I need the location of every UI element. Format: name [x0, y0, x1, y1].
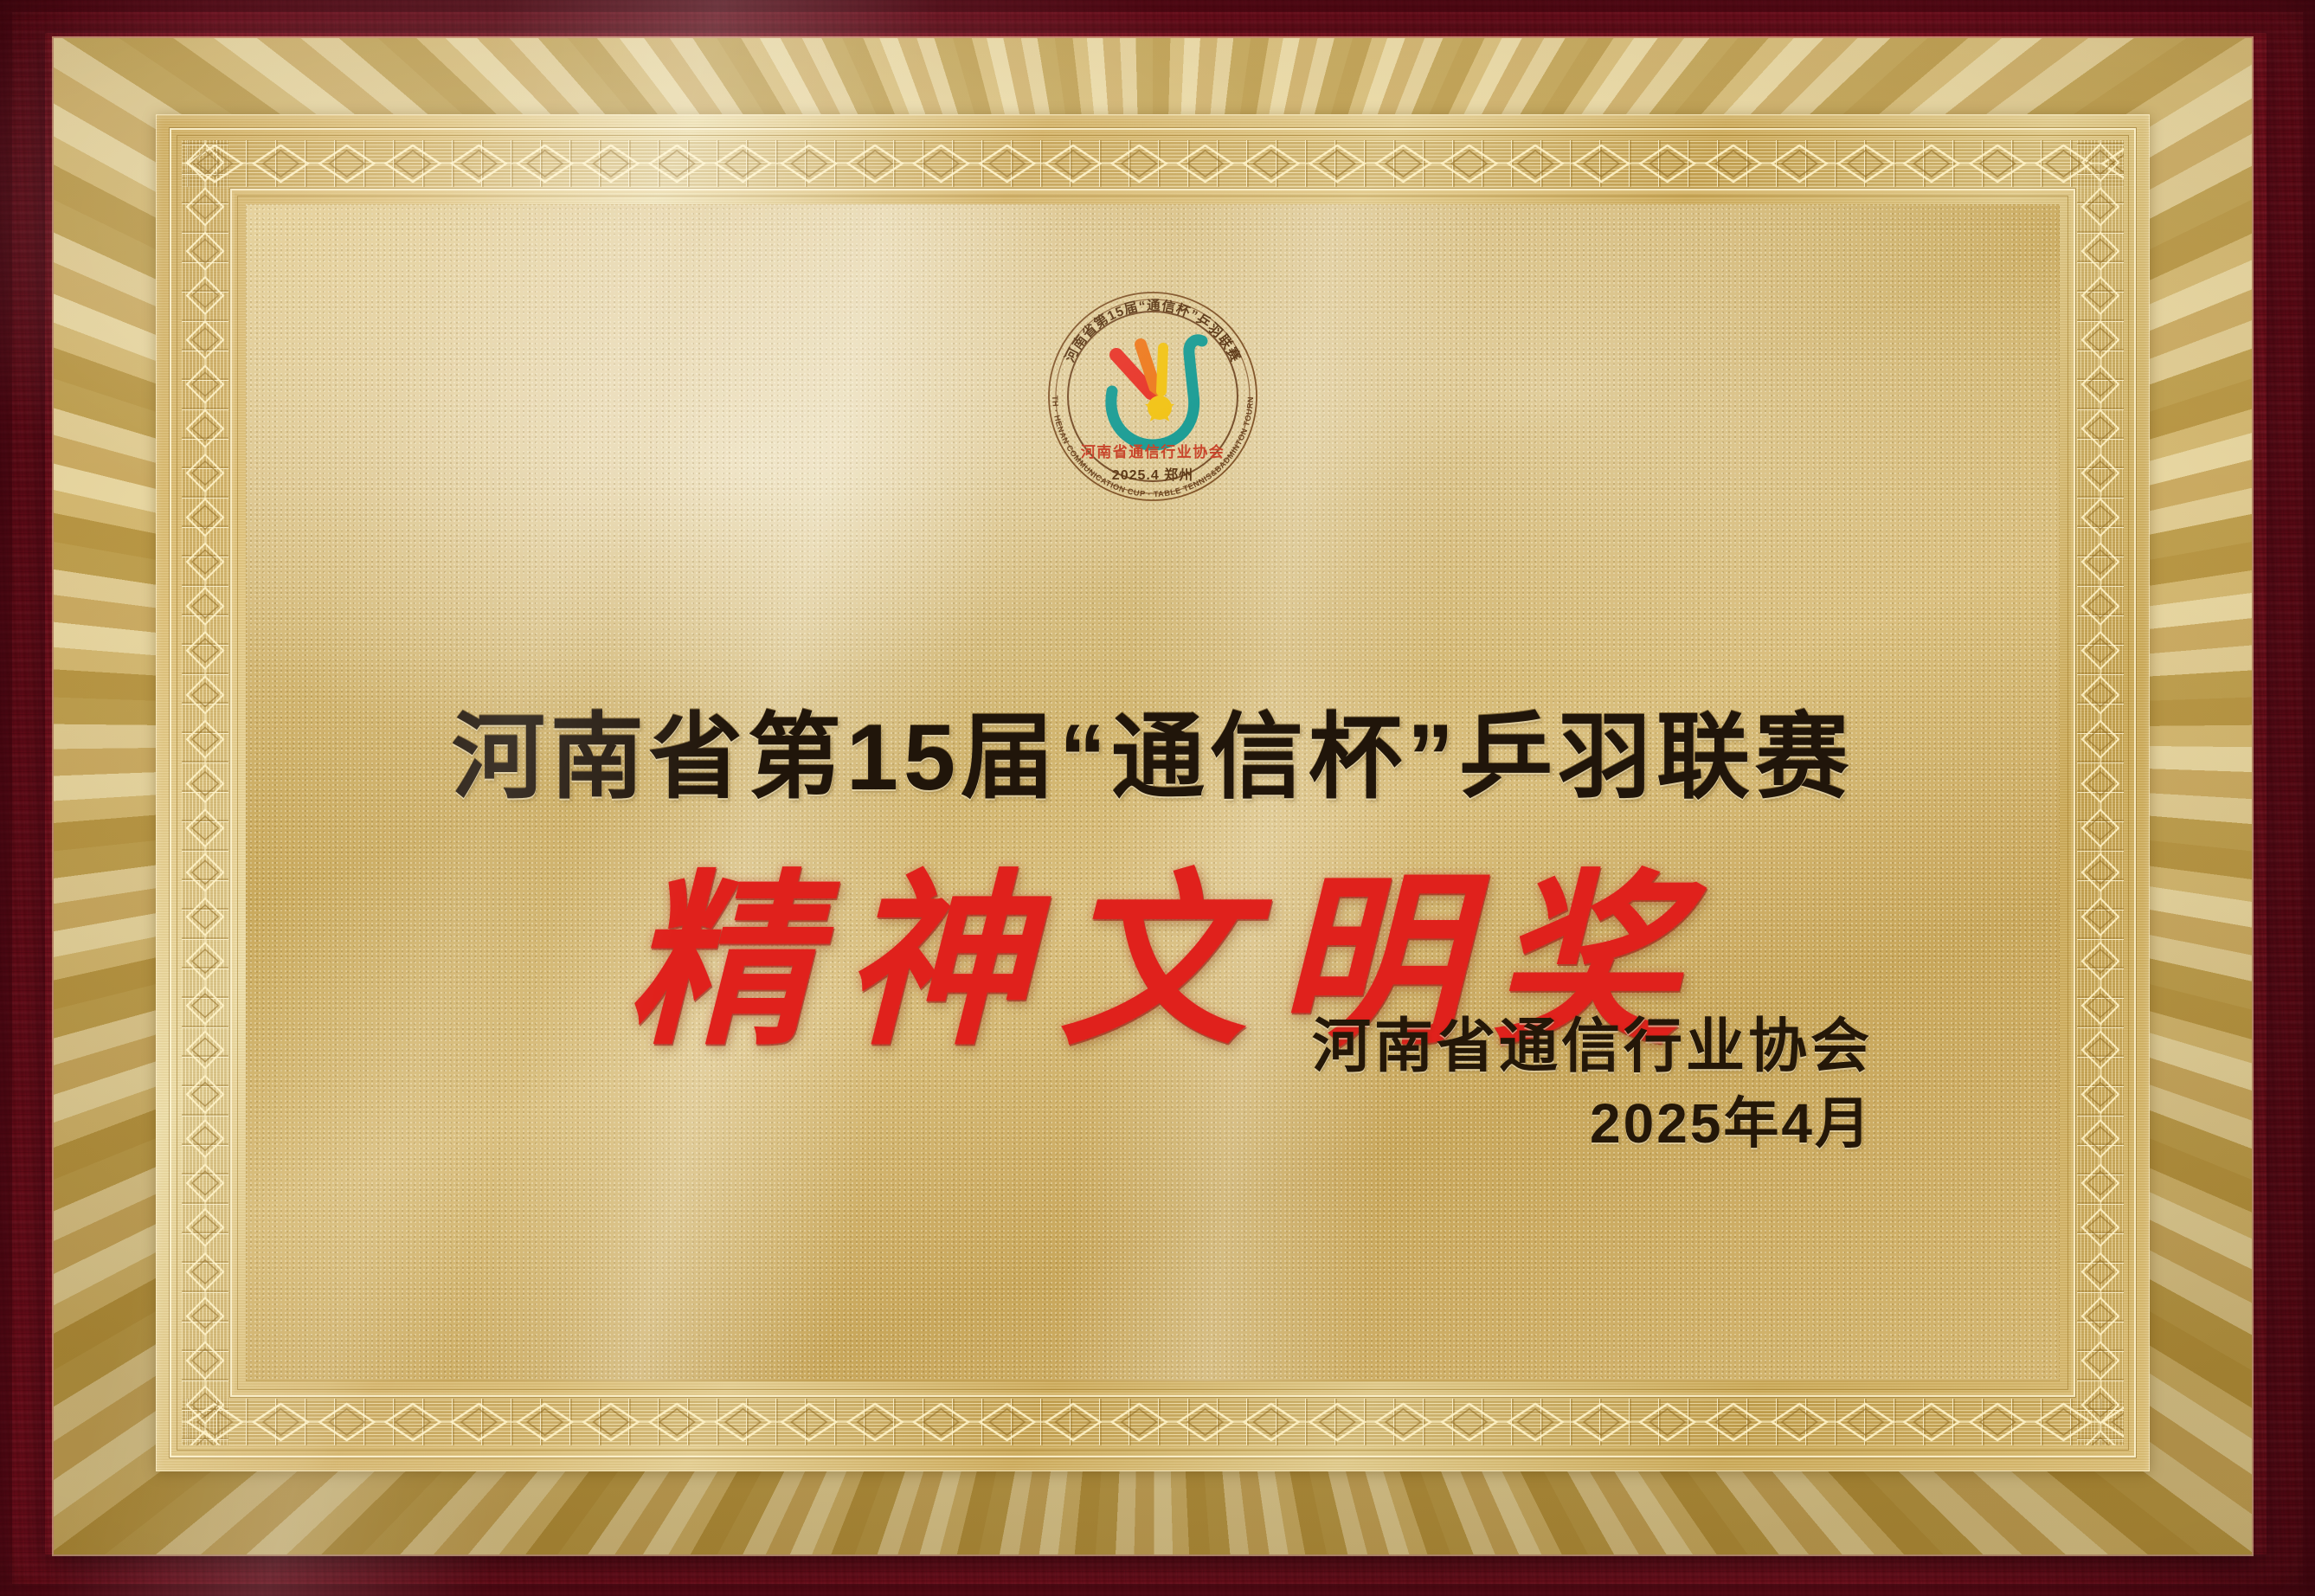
tournament-emblem: 河南省第15届“通信杯”乒羽联赛 THE 15TH · HENAN COMMUN… — [1044, 287, 1262, 505]
ornament-band-top — [182, 140, 2124, 187]
emblem-ring-cn: 河南省第15届“通信杯”乒羽联赛 — [1061, 297, 1244, 364]
gold-plate: 河南省第15届“通信杯”乒羽联赛 THE 15TH · HENAN COMMUN… — [54, 38, 2252, 1554]
inscription-content: 河南省第15届“通信杯”乒羽联赛 THE 15TH · HENAN COMMUN… — [246, 204, 2060, 1381]
ornament-band-right — [2077, 140, 2124, 1445]
engraved-border-field: 河南省第15届“通信杯”乒羽联赛 THE 15TH · HENAN COMMUN… — [156, 114, 2150, 1471]
emblem-place-date: 2025.4 郑州 — [1112, 467, 1193, 483]
signature-date: 2025年4月 — [1312, 1089, 1873, 1158]
emblem-org: 河南省通信行业协会 — [1081, 443, 1225, 460]
inscription-panel: 河南省第15届“通信杯”乒羽联赛 THE 15TH · HENAN COMMUN… — [246, 204, 2060, 1381]
svg-text:河南省第15届“通信杯”乒羽联赛: 河南省第15届“通信杯”乒羽联赛 — [1061, 297, 1244, 364]
award-plaque: 河南省第15届“通信杯”乒羽联赛 THE 15TH · HENAN COMMUN… — [0, 0, 2315, 1596]
plaque-title: 河南省第15届“通信杯”乒羽联赛 — [246, 682, 2060, 817]
signature-organization: 河南省通信行业协会 — [1312, 1010, 1873, 1084]
ornament-band-left — [182, 140, 228, 1445]
ornament-band-bottom — [182, 1399, 2124, 1445]
signature-block: 河南省通信行业协会 2025年4月 — [1312, 1010, 1873, 1158]
